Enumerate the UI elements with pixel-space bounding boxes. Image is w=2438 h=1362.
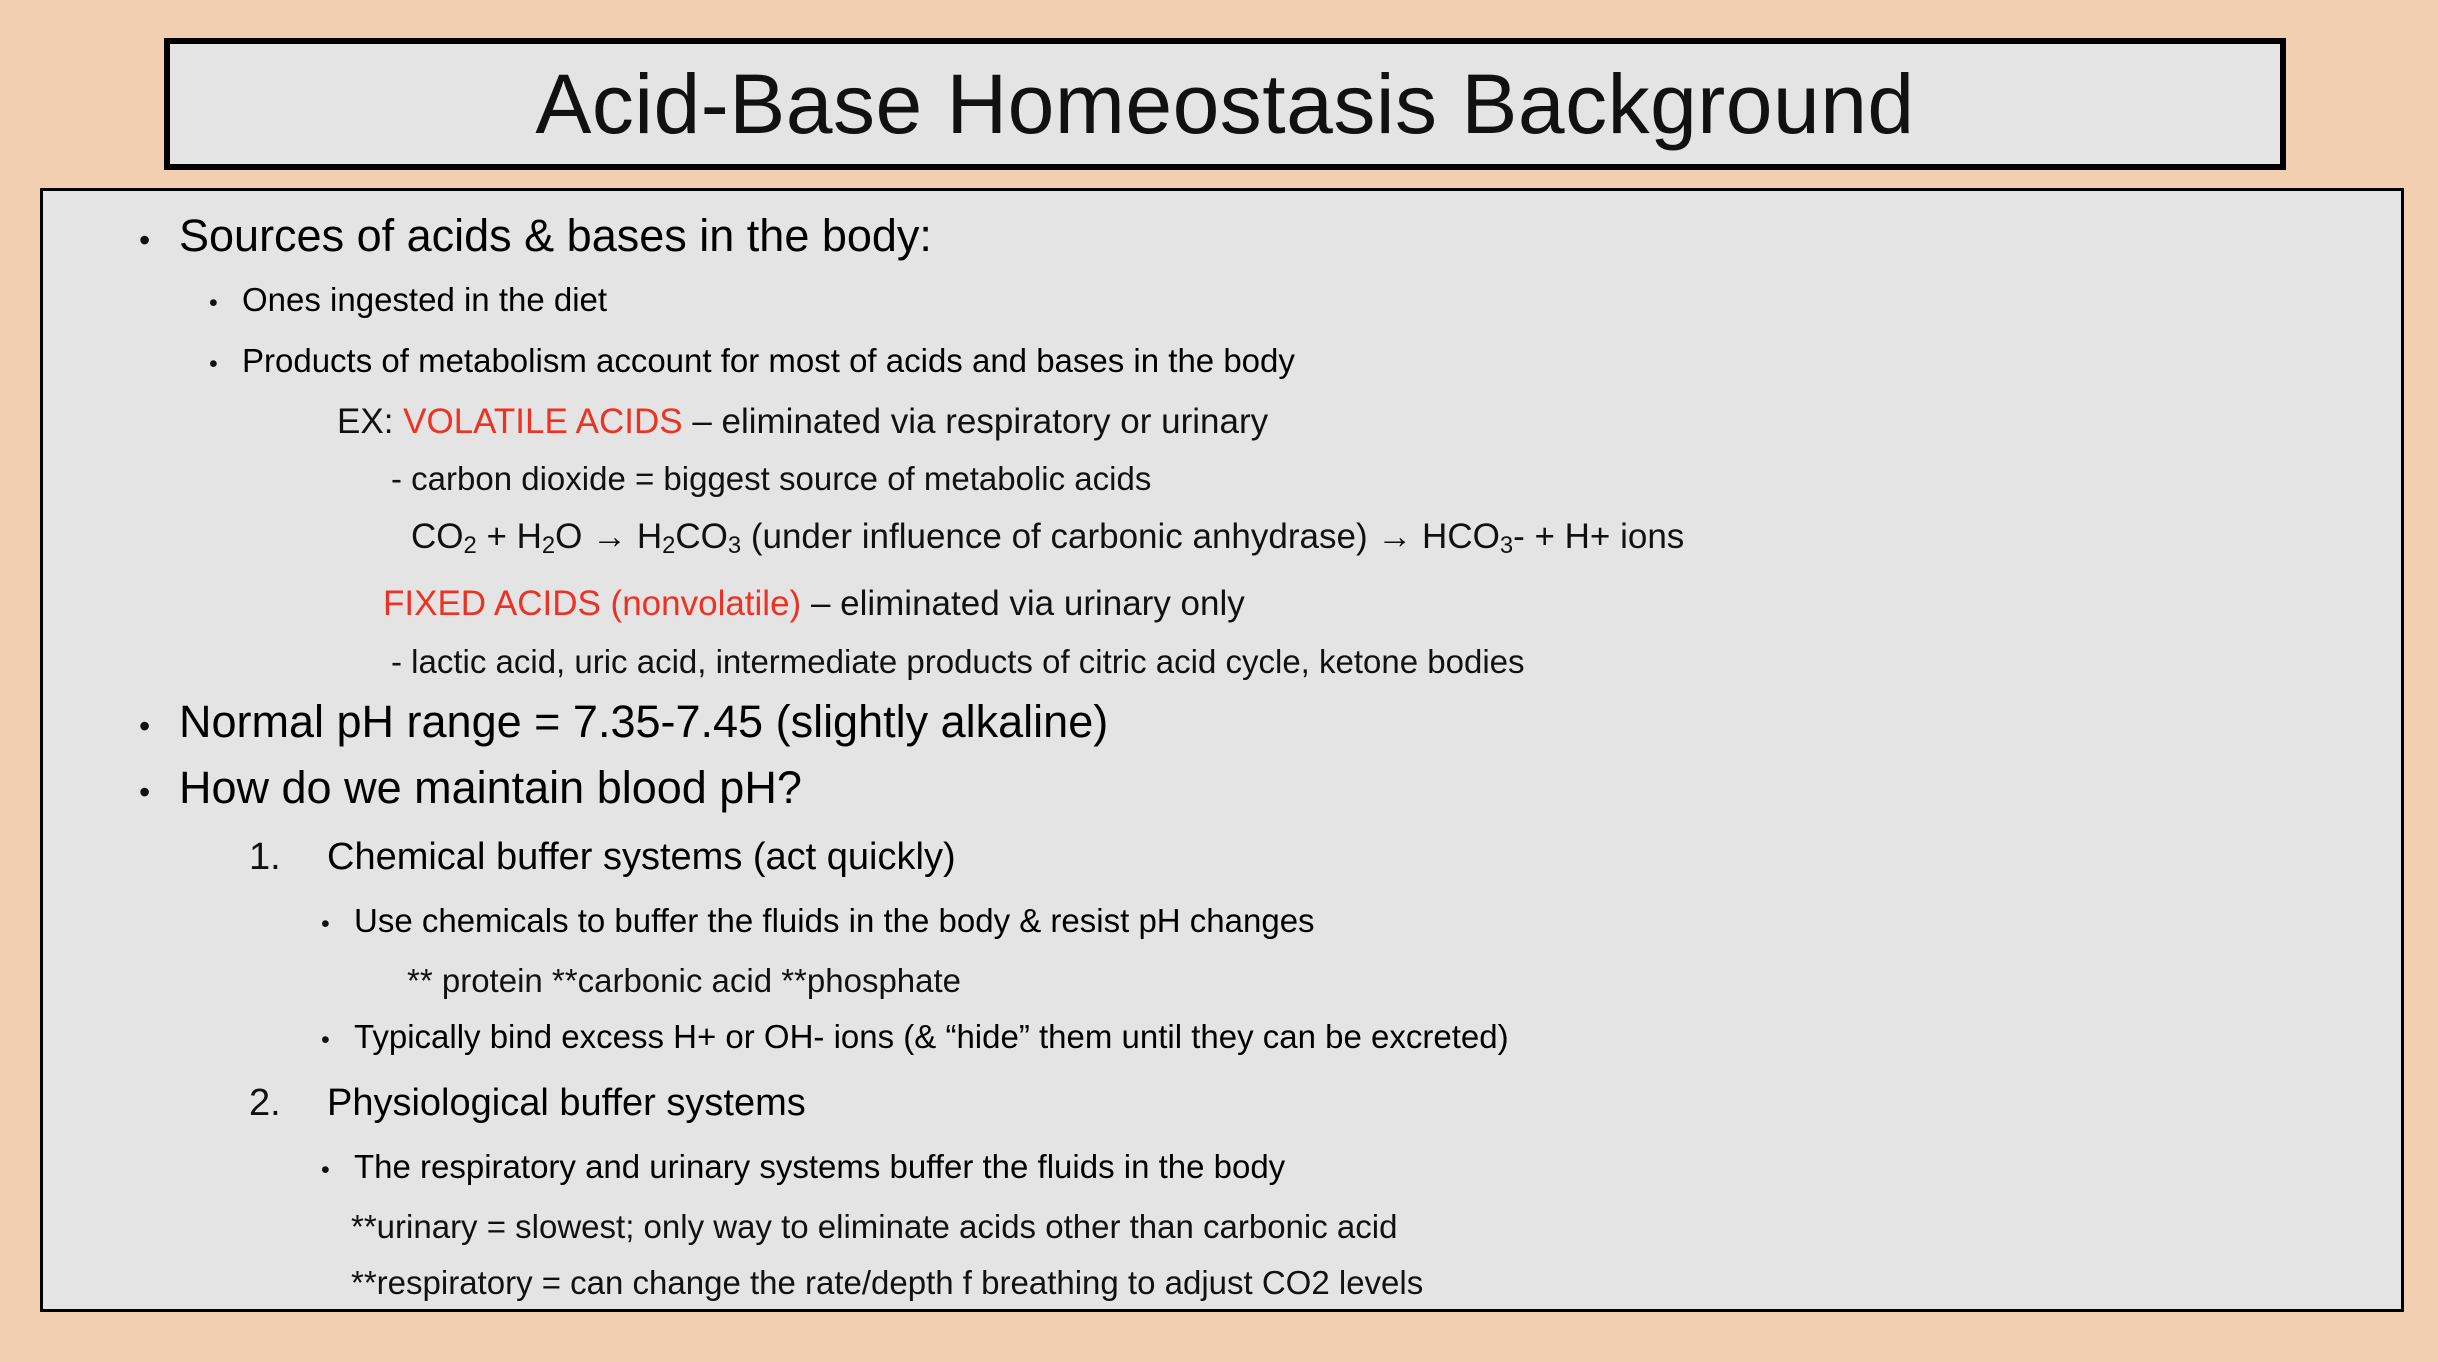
line-fixed-acid-examples: - lactic acid, uric acid, intermediate p… — [391, 633, 2383, 691]
numbered-item-2-label: Physiological buffer systems — [327, 1069, 806, 1138]
eq-part2: + H — [477, 517, 542, 556]
bullet-ph-range: • Normal pH range = 7.35-7.45 (slightly … — [139, 691, 2383, 757]
eq-sub5: 3 — [1500, 532, 1513, 559]
bullet-sources-label: Sources of acids & bases in the body: — [179, 205, 932, 267]
bullet-icon: • — [209, 336, 242, 393]
slide-canvas: Acid-Base Homeostasis Background • Sourc… — [0, 0, 2438, 1362]
bullet-ph-range-label: Normal pH range = 7.35-7.45 (slightly al… — [179, 691, 1108, 753]
eq-sub4: 3 — [728, 532, 741, 559]
bullet-icon: • — [321, 895, 354, 953]
list-marker: 1. — [249, 823, 327, 892]
numbered-2-sub-1: • The respiratory and urinary systems bu… — [321, 1138, 2383, 1199]
line-carbon-dioxide: - carbon dioxide = biggest source of met… — [391, 450, 2383, 508]
chemical-buffer-types: ** protein **carbonic acid **phosphate — [407, 953, 2383, 1008]
ex-prefix: EX: — [337, 402, 403, 441]
eq-sub2: 2 — [542, 532, 555, 559]
bullet-icon: • — [139, 761, 179, 823]
bullet-icon: • — [321, 1011, 354, 1069]
slide-content-box: • Sources of acids & bases in the body: … — [40, 188, 2404, 1312]
numbered-item-1-label: Chemical buffer systems (act quickly) — [327, 823, 956, 892]
bullet-ingested-label: Ones ingested in the diet — [242, 271, 607, 328]
bullet-metabolism: • Products of metabolism account for mos… — [209, 332, 2383, 393]
line-carbonic-equation: CO2 + H2O → H2CO3 (under influence of ca… — [411, 508, 2383, 575]
fixed-acids-desc: – eliminated via urinary only — [801, 584, 1245, 623]
fixed-acids-term: FIXED ACIDS (nonvolatile) — [383, 584, 801, 623]
numbered-1-sub-2-label: Typically bind excess H+ or OH- ions (& … — [354, 1008, 1509, 1066]
bullet-icon: • — [321, 1141, 354, 1199]
slide-title-box: Acid-Base Homeostasis Background — [164, 38, 2286, 170]
note-urinary: **urinary = slowest; only way to elimina… — [351, 1199, 2383, 1255]
line-volatile-acids: EX: VOLATILE ACIDS – eliminated via resp… — [337, 393, 2383, 450]
numbered-2-sub-1-label: The respiratory and urinary systems buff… — [354, 1138, 1285, 1196]
eq-part6: - + H+ ions — [1513, 517, 1684, 556]
bullet-sources: • Sources of acids & bases in the body: — [139, 205, 2383, 271]
eq-part4: CO — [675, 517, 728, 556]
volatile-acids-term: VOLATILE ACIDS — [403, 402, 682, 441]
eq-sub1: 2 — [464, 532, 477, 559]
eq-part3: O → H — [555, 517, 662, 556]
numbered-1-sub-1-label: Use chemicals to buffer the fluids in th… — [354, 892, 1315, 950]
eq-sub3: 2 — [662, 532, 675, 559]
page-title: Acid-Base Homeostasis Background — [535, 62, 1914, 146]
bullet-metabolism-label: Products of metabolism account for most … — [242, 332, 1295, 389]
numbered-1-sub-1: • Use chemicals to buffer the fluids in … — [321, 892, 2383, 953]
bullet-icon: • — [209, 275, 242, 332]
bullet-ingested: • Ones ingested in the diet — [209, 271, 2383, 332]
bullet-icon: • — [139, 695, 179, 757]
numbered-item-1: 1. Chemical buffer systems (act quickly) — [249, 823, 2383, 892]
note-respiratory: **respiratory = can change the rate/dept… — [351, 1255, 2383, 1311]
numbered-1-sub-2: • Typically bind excess H+ or OH- ions (… — [321, 1008, 2383, 1069]
numbered-item-2: 2. Physiological buffer systems — [249, 1069, 2383, 1138]
volatile-acids-desc: – eliminated via respiratory or urinary — [683, 402, 1269, 441]
eq-part1: CO — [411, 517, 464, 556]
bullet-maintain-ph: • How do we maintain blood pH? — [139, 757, 2383, 823]
line-fixed-acids: FIXED ACIDS (nonvolatile) – eliminated v… — [383, 575, 2383, 633]
bullet-icon: • — [139, 209, 179, 271]
list-marker: 2. — [249, 1069, 327, 1138]
eq-part5: (under influence of carbonic anhydrase) … — [741, 517, 1500, 556]
bullet-maintain-ph-label: How do we maintain blood pH? — [179, 757, 802, 819]
